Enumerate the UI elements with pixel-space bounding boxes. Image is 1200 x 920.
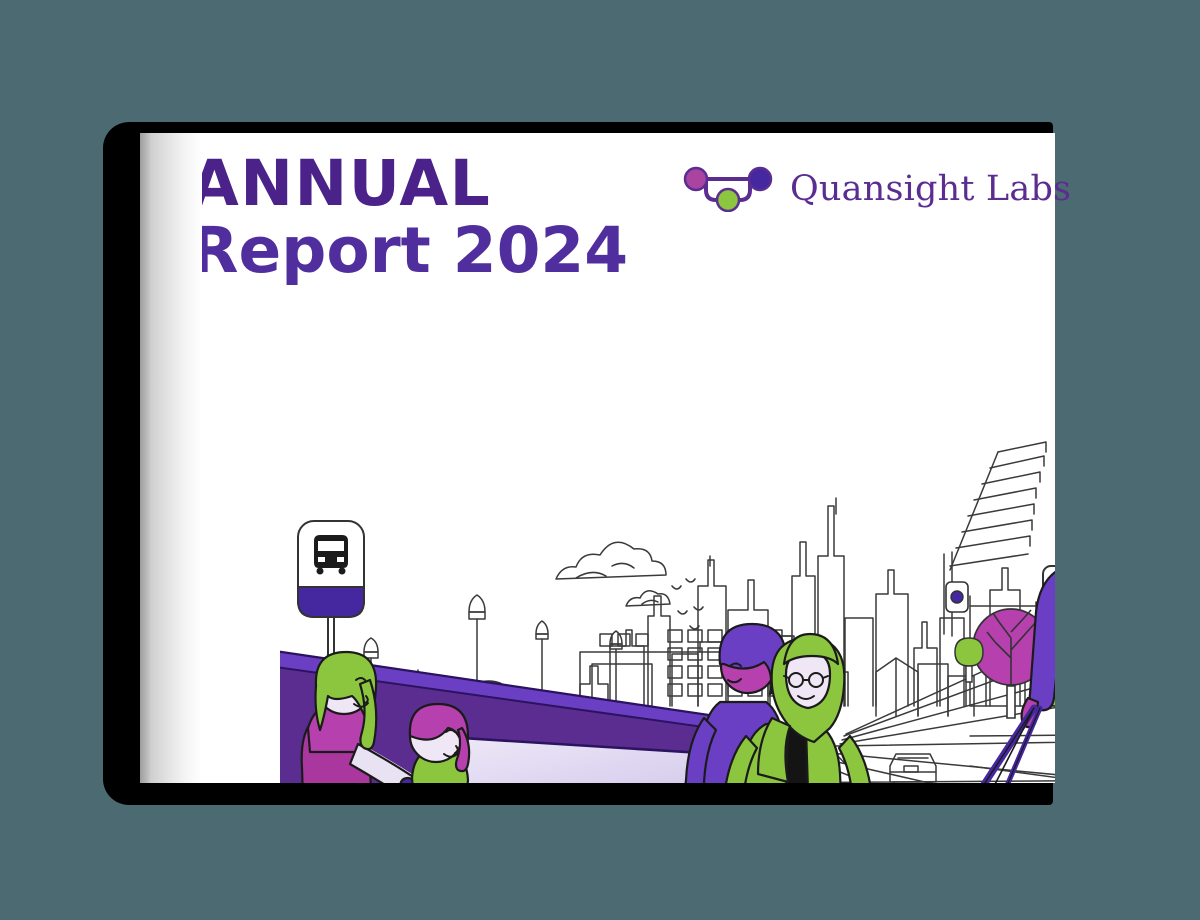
brand-logo: Quansight Labs xyxy=(680,162,1071,216)
screenshot-stage: ANNUAL Report 2024 Quansight Labs xyxy=(0,0,1200,920)
page-left-curl xyxy=(140,133,150,783)
quansight-node-graph-logo xyxy=(680,162,776,216)
pedestrian-signal-box xyxy=(946,582,968,612)
cover-title-block: ANNUAL Report 2024 xyxy=(190,152,628,287)
page-title-line-2: Report 2024 xyxy=(190,216,628,287)
brand-name: Quansight Labs xyxy=(790,169,1071,209)
page-title-line-1: ANNUAL xyxy=(190,152,628,216)
cover-illustration xyxy=(280,266,1055,783)
